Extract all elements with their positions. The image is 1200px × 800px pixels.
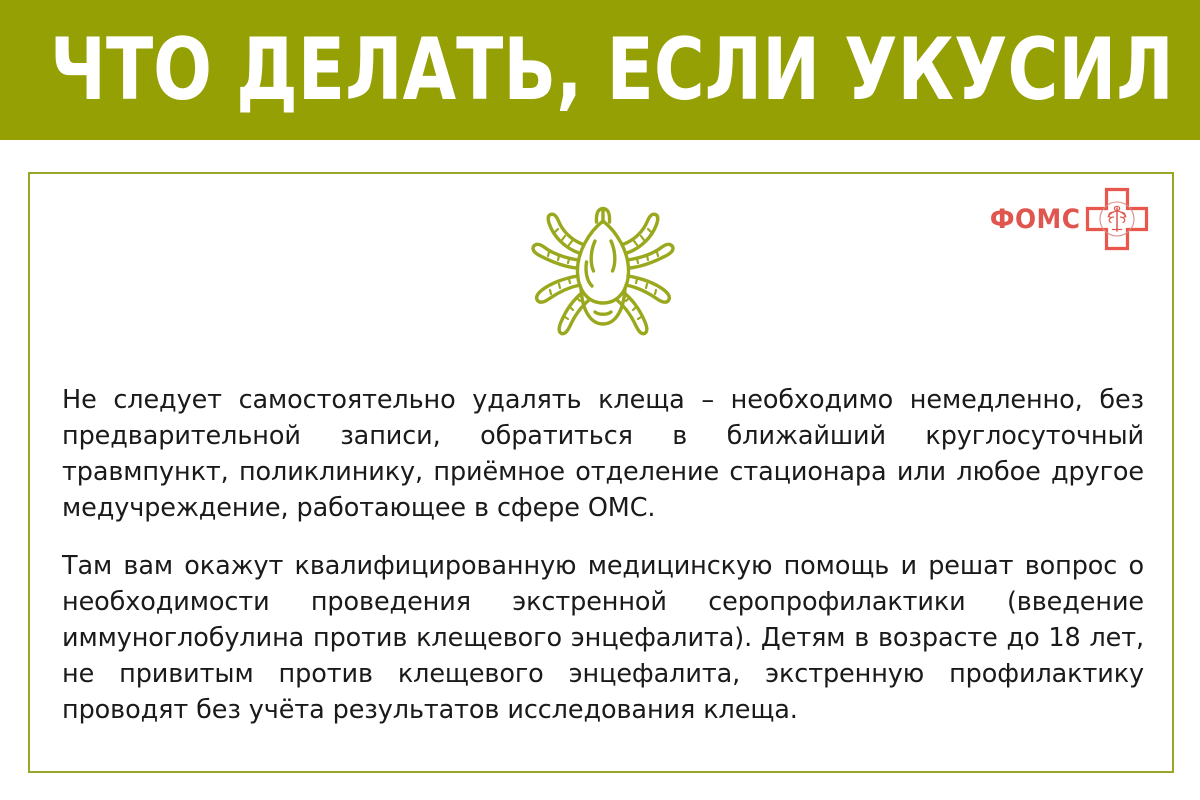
paragraph-1: Не следует самостоятельно удалять клеща … bbox=[62, 382, 1144, 526]
body-text: Не следует самостоятельно удалять клеща … bbox=[62, 382, 1144, 728]
content-card: ФОМС bbox=[28, 172, 1174, 773]
infographic-poster: ЧТО ДЕЛАТЬ, ЕСЛИ УКУСИЛ КЛЕЩ? ФОМС bbox=[0, 0, 1200, 800]
page-title: ЧТО ДЕЛАТЬ, ЕСЛИ УКУСИЛ КЛЕЩ? bbox=[50, 18, 944, 122]
paragraph-2: Там вам окажут квалифицированную медицин… bbox=[62, 548, 1144, 728]
tick-icon bbox=[525, 196, 681, 344]
header-banner: ЧТО ДЕЛАТЬ, ЕСЛИ УКУСИЛ КЛЕЩ? bbox=[0, 0, 1200, 140]
tick-illustration bbox=[30, 196, 1176, 344]
